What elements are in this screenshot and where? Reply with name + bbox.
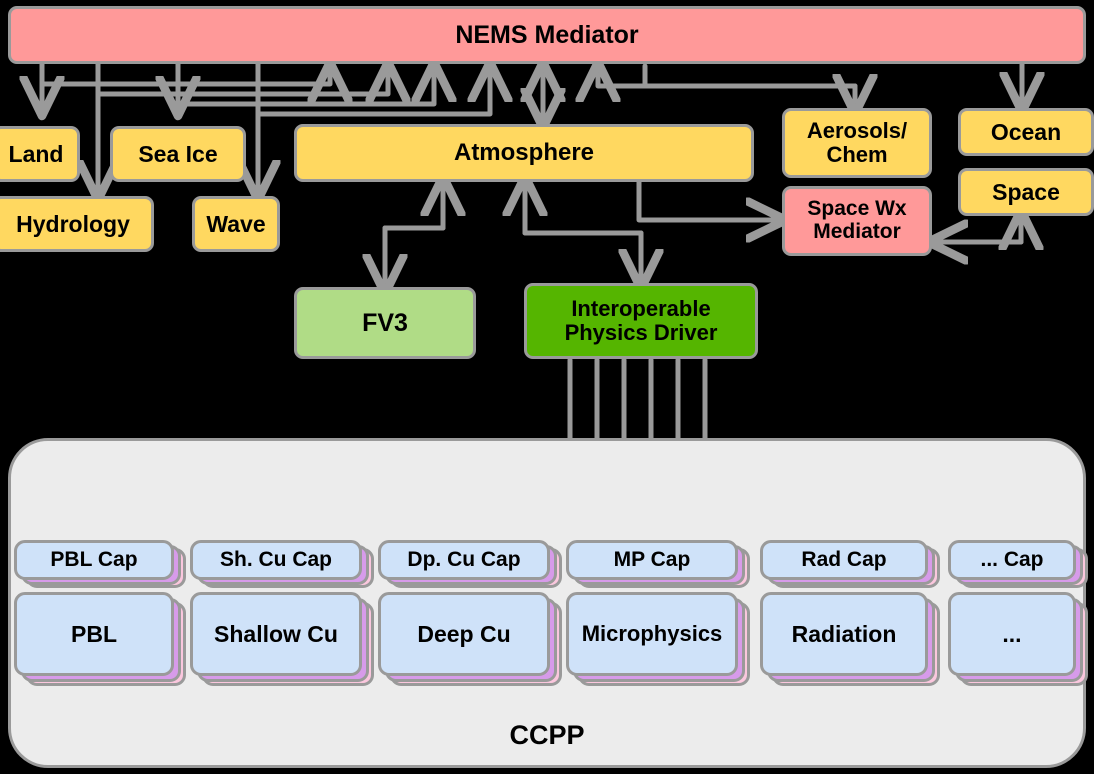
component-hydrology[interactable]: Hydrology (0, 196, 154, 252)
space-wx-mediator-label-line2: Mediator (813, 221, 901, 244)
cap-pbl-label: PBL Cap (50, 548, 137, 572)
scheme-pbl-label: PBL (71, 621, 117, 648)
cap-radiation[interactable]: Rad Cap (760, 540, 928, 580)
cap-pbl[interactable]: PBL Cap (14, 540, 174, 580)
component-wave[interactable]: Wave (192, 196, 280, 252)
cap-other[interactable]: ... Cap (948, 540, 1076, 580)
scheme-shallow-cu-label: Shallow Cu (214, 621, 338, 648)
component-ocean[interactable]: Ocean (958, 108, 1094, 156)
cap-other-label: ... Cap (980, 548, 1043, 572)
component-space[interactable]: Space (958, 168, 1094, 216)
cap-shallow-cu-label: Sh. Cu Cap (220, 548, 332, 572)
scheme-pbl[interactable]: PBL (14, 592, 174, 676)
scheme-microphysics-label: Microphysics (582, 621, 723, 647)
ipd-label-line1: Interoperable (571, 297, 710, 321)
cap-microphysics[interactable]: MP Cap (566, 540, 738, 580)
space-wx-mediator-box[interactable]: Space Wx Mediator (782, 186, 932, 256)
dycore-fv3-box[interactable]: FV3 (294, 287, 476, 359)
scheme-other[interactable]: ... (948, 592, 1076, 676)
scheme-microphysics[interactable]: Microphysics (566, 592, 738, 676)
nems-mediator-label: NEMS Mediator (455, 22, 638, 49)
component-aerosols-chem[interactable]: Aerosols/ Chem (782, 108, 932, 178)
component-aerosols-label-line1: Aerosols/ (807, 119, 907, 143)
ipd-label-line2: Physics Driver (565, 321, 718, 345)
component-sea-ice[interactable]: Sea Ice (110, 126, 246, 182)
scheme-group-shallow-cu: Sh. Cu Cap Shallow Cu (190, 540, 380, 690)
scheme-deep-cu-label: Deep Cu (417, 621, 510, 648)
scheme-group-other: ... Cap ... (948, 540, 1094, 690)
scheme-radiation[interactable]: Radiation (760, 592, 928, 676)
component-sea-ice-label: Sea Ice (138, 142, 217, 167)
cap-deep-cu-label: Dp. Cu Cap (407, 548, 520, 572)
component-hydrology-label: Hydrology (16, 212, 130, 237)
interoperable-physics-driver-box[interactable]: Interoperable Physics Driver (524, 283, 758, 359)
component-space-label: Space (992, 180, 1060, 205)
cap-microphysics-label: MP Cap (614, 548, 691, 572)
dycore-fv3-label: FV3 (362, 310, 408, 337)
component-atmosphere[interactable]: Atmosphere (294, 124, 754, 182)
scheme-shallow-cu[interactable]: Shallow Cu (190, 592, 362, 676)
component-land[interactable]: Land (0, 126, 80, 182)
component-aerosols-label-line2: Chem (826, 143, 887, 167)
space-wx-mediator-label-line1: Space Wx (807, 198, 906, 221)
component-atmosphere-label: Atmosphere (454, 140, 594, 166)
cap-shallow-cu[interactable]: Sh. Cu Cap (190, 540, 362, 580)
scheme-radiation-label: Radiation (792, 621, 897, 648)
component-wave-label: Wave (206, 212, 265, 237)
component-ocean-label: Ocean (991, 120, 1061, 145)
scheme-group-pbl: PBL Cap PBL (14, 540, 192, 690)
cap-deep-cu[interactable]: Dp. Cu Cap (378, 540, 550, 580)
scheme-group-microphysics: MP Cap Microphysics (566, 540, 756, 690)
scheme-group-radiation: Rad Cap Radiation (760, 540, 946, 690)
scheme-deep-cu[interactable]: Deep Cu (378, 592, 550, 676)
cap-radiation-label: Rad Cap (801, 548, 886, 572)
diagram-canvas: CCPP (0, 0, 1094, 774)
nems-mediator-box[interactable]: NEMS Mediator (8, 6, 1086, 64)
component-land-label: Land (9, 142, 64, 167)
scheme-group-deep-cu: Dp. Cu Cap Deep Cu (378, 540, 568, 690)
scheme-other-label: ... (1002, 621, 1021, 648)
ccpp-label: CCPP (11, 720, 1083, 751)
